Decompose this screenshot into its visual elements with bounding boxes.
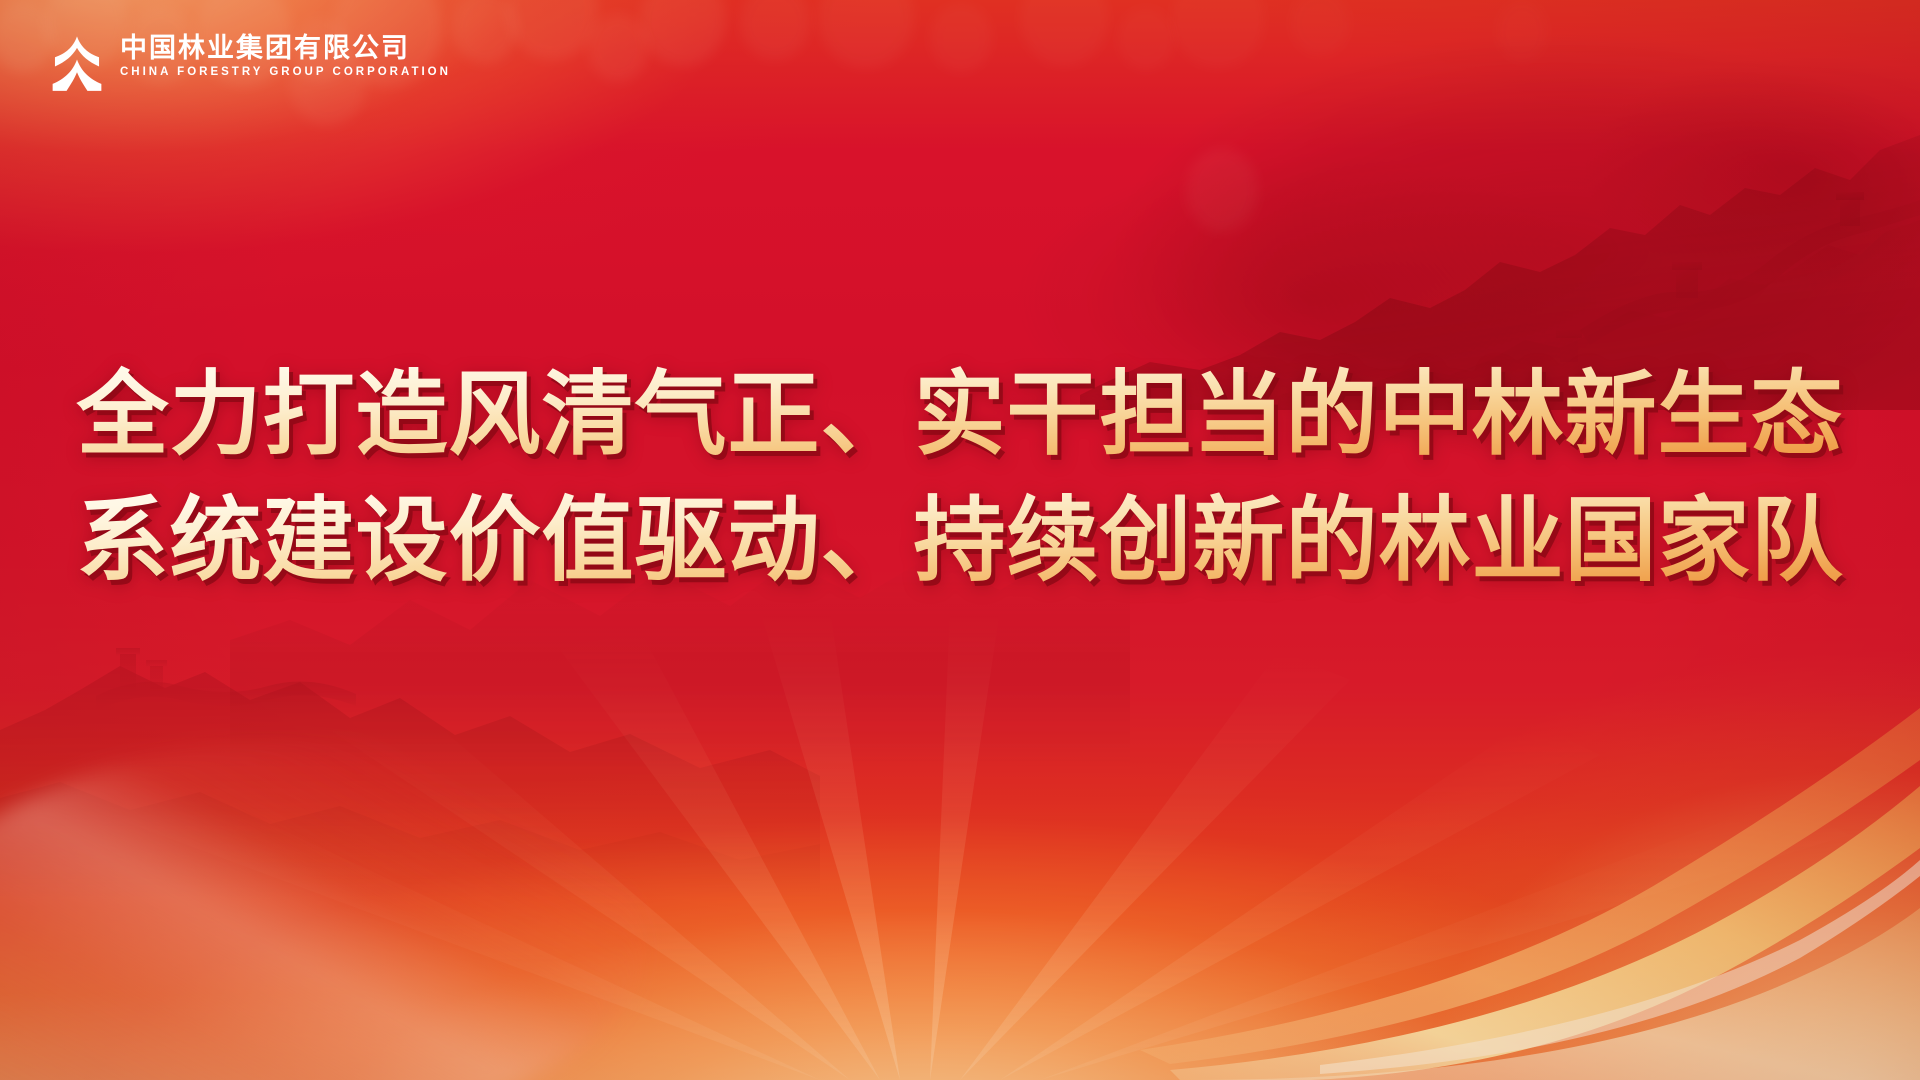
- banner-canvas: 中国林业集团有限公司 CHINA FORESTRY GROUP CORPORAT…: [0, 0, 1920, 1080]
- pagoda-mountain-mark-icon: [48, 34, 106, 92]
- brand-name-cn: 中国林业集团有限公司: [120, 35, 451, 62]
- brand-name-en: CHINA FORESTRY GROUP CORPORATION: [120, 67, 451, 79]
- headline-line-1: 全力打造风清气正、实干担当的中林新生态: [40, 352, 1880, 478]
- brand-logo[interactable]: 中国林业集团有限公司 CHINA FORESTRY GROUP CORPORAT…: [48, 32, 451, 92]
- headline-line-2: 系统建设价值驱动、持续创新的林业国家队: [40, 478, 1880, 604]
- golden-ribbon-swoosh: [1020, 650, 1920, 1080]
- headline-block: 全力打造风清气正、实干担当的中林新生态 系统建设价值驱动、持续创新的林业国家队: [0, 352, 1920, 604]
